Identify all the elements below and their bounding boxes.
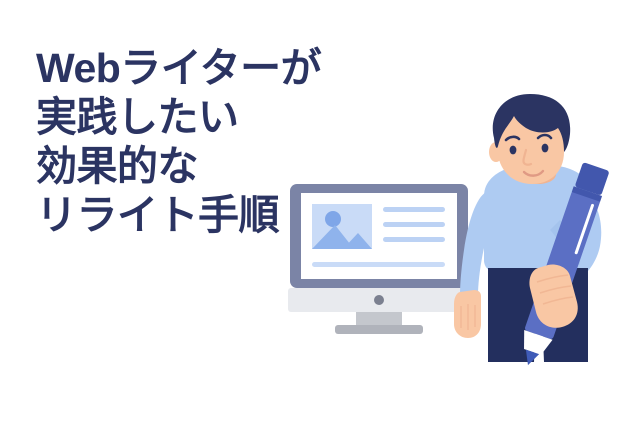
page-title: Webライターが 実践したい 効果的な リライト手順 <box>36 44 456 240</box>
screen-footer-line <box>312 262 445 267</box>
title-line-3: 効果的な <box>36 142 456 191</box>
power-indicator-dot <box>374 295 384 305</box>
monitor-stand <box>335 312 423 334</box>
title-line-4: リライト手順 <box>36 191 456 240</box>
thumbnail-canvas: Webライターが 実践したい 効果的な リライト手順 <box>0 0 640 427</box>
left-hand <box>454 290 481 338</box>
eye-right <box>542 144 549 153</box>
head <box>489 94 570 184</box>
title-line-1: Webライターが <box>36 44 456 93</box>
person-illustration <box>440 100 640 368</box>
title-line-2: 実践したい <box>36 93 456 142</box>
eye-left <box>510 146 517 155</box>
